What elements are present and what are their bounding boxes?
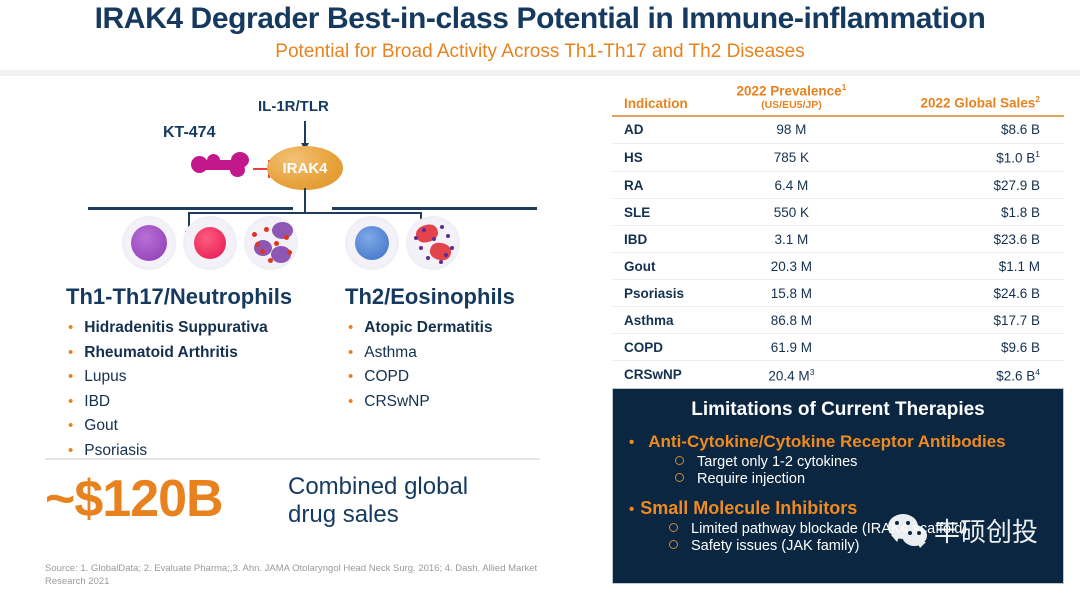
- footnote-marker: 3: [810, 367, 815, 377]
- section-divider: [45, 458, 540, 460]
- limitation-sublist: Target only 1-2 cytokines Require inject…: [675, 454, 1047, 487]
- cell-sales: $17.7 B: [867, 307, 1064, 334]
- bullet-icon: •: [68, 369, 73, 384]
- cell-sales: $9.6 B: [867, 334, 1064, 361]
- list-item: •CRSwNP: [348, 393, 493, 411]
- limitations-panel: Limitations of Current Therapies • Anti-…: [612, 388, 1064, 584]
- table-header-row: Indication 2022 Prevalence1 (US/EU5/JP) …: [612, 82, 1064, 116]
- bullet-icon: •: [68, 345, 73, 360]
- stimulus-label: IL-1R/TLR: [258, 98, 329, 115]
- lymphocyte-blue-icon: [345, 216, 399, 270]
- table-row: Psoriasis15.8 M$24.6 B: [612, 280, 1064, 307]
- table-row: RA6.4 M$27.9 B: [612, 172, 1064, 199]
- list-item-label: Lupus: [84, 368, 126, 386]
- list-item-label: Target only 1-2 cytokines: [697, 454, 857, 470]
- list-item: •Atopic Dermatitis: [348, 319, 493, 337]
- cell-sales: $1.1 M: [867, 253, 1064, 280]
- list-item-label: CRSwNP: [364, 393, 429, 411]
- footnote-marker: 1: [1035, 149, 1040, 159]
- group-title-th2: Th2/Eosinophils: [345, 284, 515, 310]
- callout-caption-line1: Combined global: [288, 473, 468, 501]
- cell-prevalence: 98 M: [716, 116, 867, 144]
- callout-caption-line2: drug sales: [288, 501, 468, 529]
- slide-header: IRAK4 Degrader Best-in-class Potential i…: [0, 0, 1080, 72]
- footnote-marker: 2: [1035, 94, 1040, 104]
- slide: IRAK4 Degrader Best-in-class Potential i…: [0, 0, 1080, 591]
- list-item: •Asthma: [348, 344, 493, 362]
- list-item: •Lupus: [68, 368, 268, 386]
- disease-list-th2: •Atopic Dermatitis •Asthma •COPD •CRSwNP: [348, 319, 493, 417]
- table-row: Asthma86.8 M$17.7 B: [612, 307, 1064, 334]
- connector-trunk: [304, 188, 306, 214]
- callout-amount: ~$120B: [45, 469, 223, 529]
- lymphocyte-purple-icon: [122, 216, 176, 270]
- list-item: Target only 1-2 cytokines: [675, 454, 1047, 470]
- degrader-molecule-icon: [187, 148, 251, 182]
- prevalence-table: Indication 2022 Prevalence1 (US/EU5/JP) …: [612, 82, 1064, 389]
- cell-indication: AD: [612, 116, 716, 144]
- neutrophil-icon: [244, 216, 298, 270]
- cell-indication: Psoriasis: [612, 280, 716, 307]
- list-item-label: Psoriasis: [84, 442, 147, 460]
- cell-prevalence: 61.9 M: [716, 334, 867, 361]
- group-rule-right: [332, 207, 537, 210]
- circle-bullet-icon: [669, 540, 678, 549]
- circle-bullet-icon: [675, 473, 684, 482]
- watermark: 丰硕创投: [888, 512, 1038, 549]
- cell-prevalence: 15.8 M: [716, 280, 867, 307]
- target-node-irak4: IRAK4: [267, 146, 343, 190]
- cell-prevalence: 3.1 M: [716, 226, 867, 253]
- list-item: •IBD: [68, 393, 268, 411]
- table-body: AD98 M$8.6 BHS785 K$1.0 B1RA6.4 M$27.9 B…: [612, 116, 1064, 389]
- column-header-prevalence: 2022 Prevalence1 (US/EU5/JP): [716, 82, 867, 116]
- list-item-label: Safety issues (JAK family): [691, 538, 859, 554]
- list-item: •Rheumatoid Arthritis: [68, 344, 268, 362]
- bullet-icon: •: [348, 320, 353, 335]
- group-title-th1: Th1-Th17/Neutrophils: [66, 284, 292, 310]
- cell-indication: HS: [612, 143, 716, 172]
- limitations-heading: Limitations of Current Therapies: [629, 399, 1047, 421]
- cell-sales: $24.6 B: [867, 280, 1064, 307]
- lymphocyte-pink-icon: [183, 216, 237, 270]
- cell-prevalence: 6.4 M: [716, 172, 867, 199]
- footnote-marker: 4: [1035, 367, 1040, 377]
- watermark-text: 丰硕创投: [934, 512, 1038, 549]
- column-header-prevalence-sub: (US/EU5/JP): [716, 99, 867, 111]
- table-row: Gout20.3 M$1.1 M: [612, 253, 1064, 280]
- limitation-group-antibodies: • Anti-Cytokine/Cytokine Receptor Antibo…: [629, 432, 1047, 487]
- bullet-icon: •: [68, 418, 73, 433]
- limitation-title-label: Small Molecule Inhibitors: [640, 498, 857, 519]
- circle-bullet-icon: [675, 456, 684, 465]
- wechat-logo-icon: [888, 514, 932, 548]
- list-item: •Psoriasis: [68, 442, 268, 460]
- list-item-label: Rheumatoid Arthritis: [84, 344, 238, 362]
- sales-callout: ~$120B Combined global drug sales: [45, 469, 565, 539]
- cell-prevalence: 785 K: [716, 143, 867, 172]
- cell-indication: COPD: [612, 334, 716, 361]
- cell-prevalence: 86.8 M: [716, 307, 867, 334]
- cell-indication: CRSwNP: [612, 361, 716, 389]
- list-item: •COPD: [348, 368, 493, 386]
- cell-sales: $23.6 B: [867, 226, 1064, 253]
- cell-indication: Asthma: [612, 307, 716, 334]
- page-subtitle: Potential for Broad Activity Across Th1-…: [0, 41, 1080, 63]
- bullet-icon: •: [68, 443, 73, 458]
- cell-sales: $27.9 B: [867, 172, 1064, 199]
- cell-indication: IBD: [612, 226, 716, 253]
- bullet-icon: •: [348, 369, 353, 384]
- table-row: COPD61.9 M$9.6 B: [612, 334, 1064, 361]
- drug-label: KT-474: [163, 124, 215, 142]
- list-item: •Hidradenitis Suppurativa: [68, 319, 268, 337]
- table-row: HS785 K$1.0 B1: [612, 143, 1064, 172]
- cell-sales: $1.0 B1: [867, 143, 1064, 172]
- list-item-label: Atopic Dermatitis: [364, 319, 492, 337]
- list-item-label: Hidradenitis Suppurativa: [84, 319, 267, 337]
- footnote-marker: 1: [842, 82, 847, 92]
- pathway-diagram: IL-1R/TLR KT-474 IRAK4: [0, 76, 600, 591]
- cell-indication: RA: [612, 172, 716, 199]
- cell-indication: Gout: [612, 253, 716, 280]
- limitation-title-label: Anti-Cytokine/Cytokine Receptor Antibodi…: [648, 432, 1005, 452]
- column-header-indication: Indication: [612, 82, 716, 116]
- callout-caption: Combined global drug sales: [288, 473, 468, 529]
- list-item-label: Require injection: [697, 471, 805, 487]
- group-rule-left: [88, 207, 293, 210]
- disease-list-th1: •Hidradenitis Suppurativa •Rheumatoid Ar…: [68, 319, 268, 466]
- cell-prevalence: 550 K: [716, 199, 867, 226]
- circle-bullet-icon: [669, 523, 678, 532]
- cell-sales: $1.8 B: [867, 199, 1064, 226]
- cell-sales: $2.6 B4: [867, 361, 1064, 389]
- bullet-icon: •: [68, 320, 73, 335]
- limitation-title: • Anti-Cytokine/Cytokine Receptor Antibo…: [629, 432, 1047, 452]
- bullet-icon: •: [68, 394, 73, 409]
- down-arrow-icon: [304, 121, 306, 147]
- table-row: SLE550 K$1.8 B: [612, 199, 1064, 226]
- bullet-icon: •: [348, 394, 353, 409]
- bullet-icon: •: [348, 345, 353, 360]
- cell-indication: SLE: [612, 199, 716, 226]
- cell-prevalence: 20.3 M: [716, 253, 867, 280]
- cell-prevalence: 20.4 M3: [716, 361, 867, 389]
- prevalence-table-container: Indication 2022 Prevalence1 (US/EU5/JP) …: [612, 82, 1064, 389]
- column-header-sales: 2022 Global Sales2: [867, 82, 1064, 116]
- eosinophil-icon: [406, 216, 460, 270]
- bullet-icon: •: [629, 434, 634, 451]
- cell-images-th2: [345, 216, 475, 278]
- list-item: •Gout: [68, 417, 268, 435]
- connector-branch: [188, 212, 422, 214]
- page-title: IRAK4 Degrader Best-in-class Potential i…: [0, 2, 1080, 36]
- source-footnote: Source: 1. GlobalData; 2. Evaluate Pharm…: [45, 562, 545, 589]
- bullet-icon: •: [629, 501, 634, 518]
- list-item-label: COPD: [364, 368, 409, 386]
- cell-images-th1: [122, 216, 302, 278]
- list-item-label: Gout: [84, 417, 118, 435]
- table-row: IBD3.1 M$23.6 B: [612, 226, 1064, 253]
- list-item: Require injection: [675, 471, 1047, 487]
- table-row: AD98 M$8.6 B: [612, 116, 1064, 144]
- list-item-label: Asthma: [364, 344, 417, 362]
- list-item-label: IBD: [84, 393, 110, 411]
- table-row: CRSwNP20.4 M3$2.6 B4: [612, 361, 1064, 389]
- cell-sales: $8.6 B: [867, 116, 1064, 144]
